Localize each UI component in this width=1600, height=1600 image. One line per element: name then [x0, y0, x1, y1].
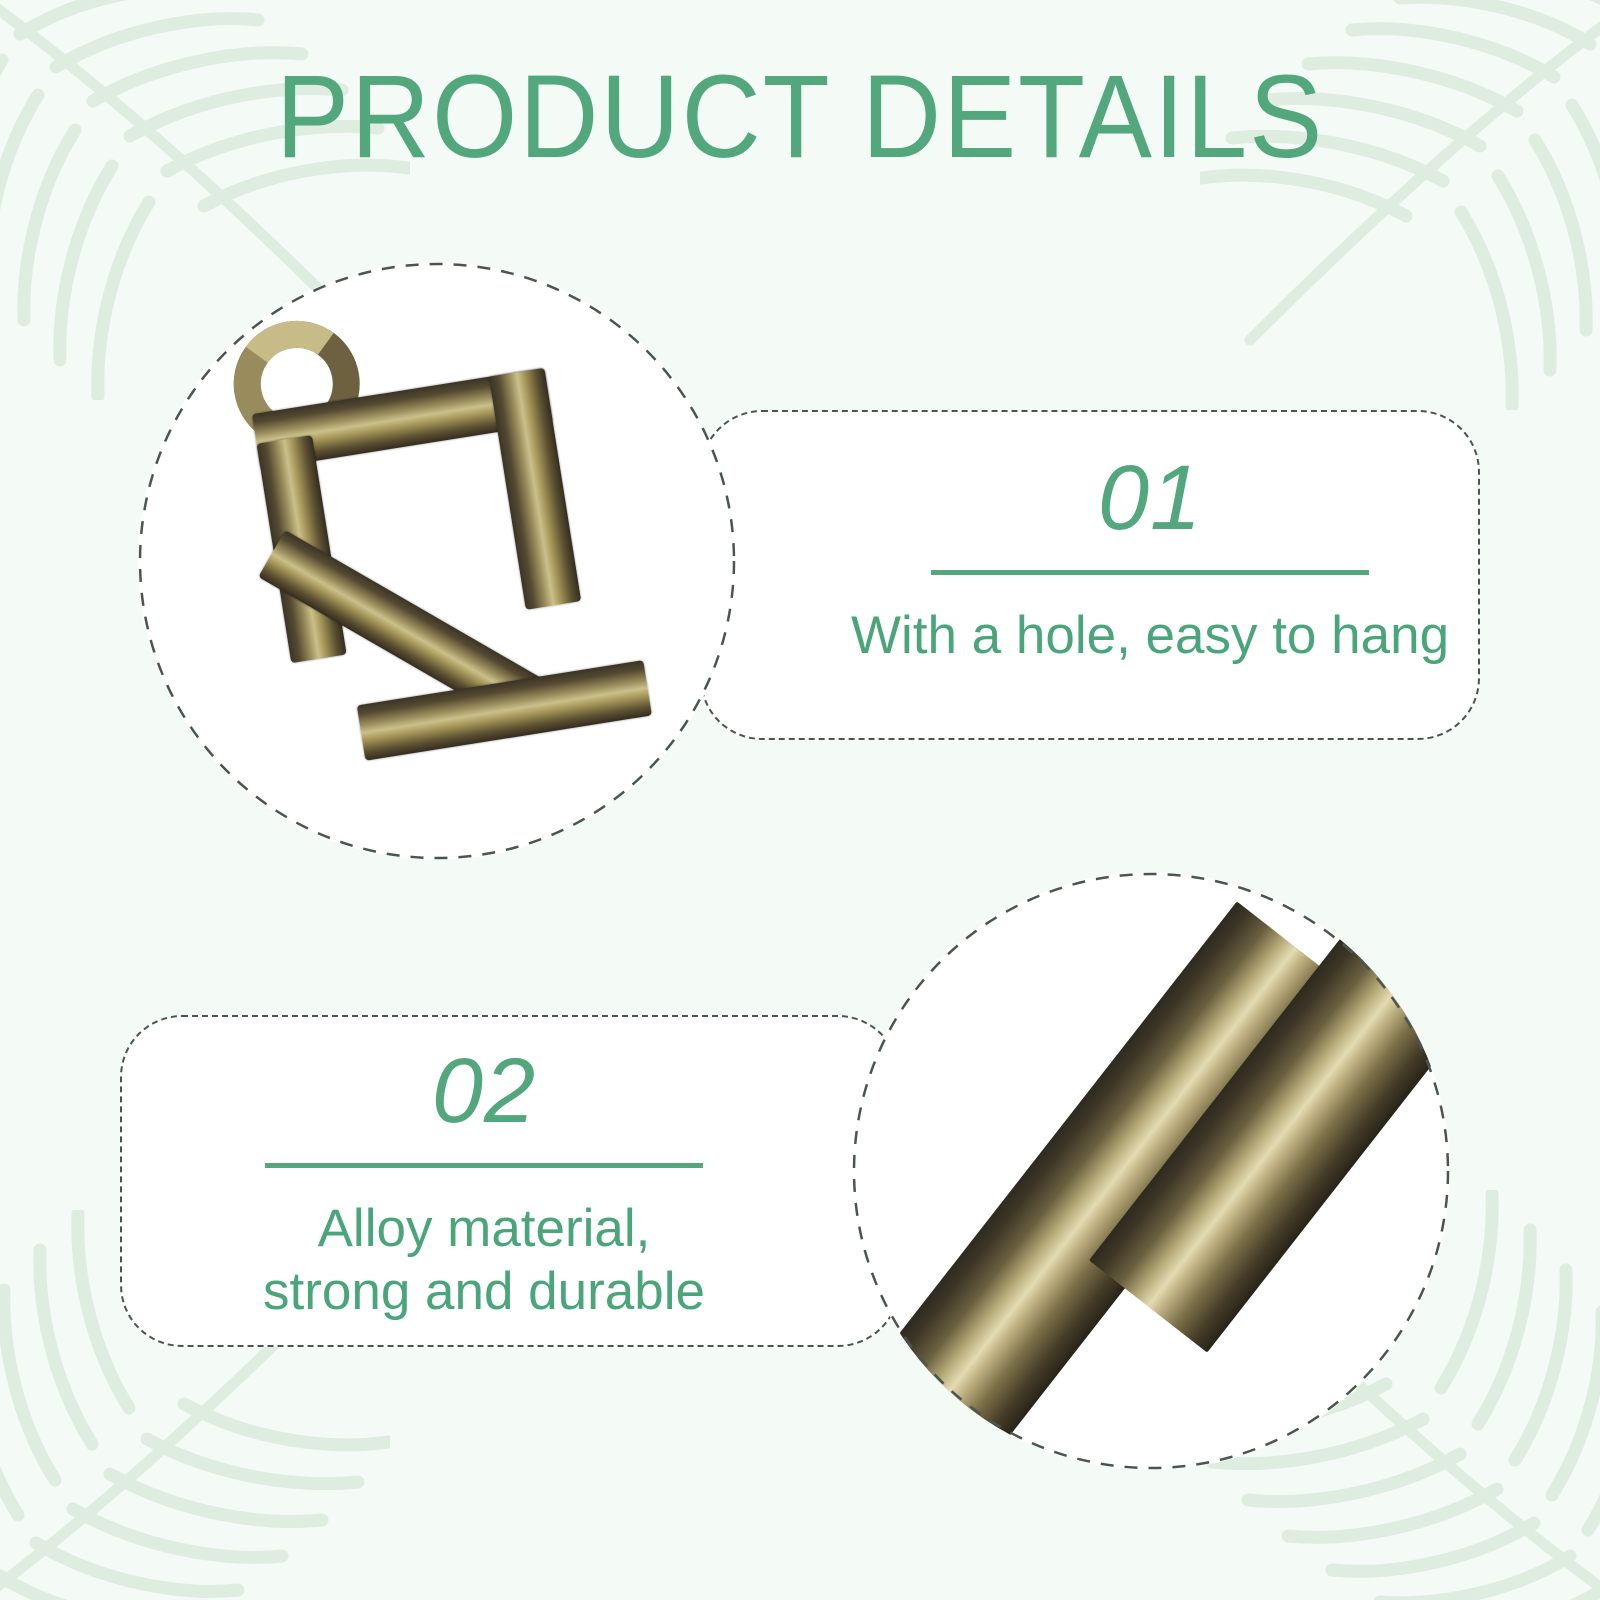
product-photo-circle-01: [138, 262, 736, 860]
feature-number-01: 01: [850, 452, 1450, 544]
bronze-letter-charm-image: [138, 262, 736, 860]
page-title: PRODUCT DETAILS: [56, 58, 1544, 176]
product-photo-01-clip: [138, 262, 736, 860]
feature-callout-01-content: 01 With a hole, easy to hang: [850, 452, 1450, 668]
feature-callout-01: 01 With a hole, easy to hang: [700, 410, 1480, 740]
feature-divider-01: [931, 570, 1369, 575]
charm-geometry: [138, 264, 723, 859]
feature-callout-02-content: 02 Alloy material, strong and durable: [184, 1045, 784, 1323]
product-photo-02-clip: [852, 872, 1450, 1470]
feature-divider-02: [265, 1163, 703, 1168]
infographic-canvas: PRODUCT DETAILS 01 With a hole, easy to …: [0, 0, 1600, 1600]
alloy-macro-image: [852, 872, 1450, 1470]
feature-callout-02: 02 Alloy material, strong and durable: [120, 1015, 900, 1347]
product-photo-circle-02: [852, 872, 1450, 1470]
charm-right-bar: [489, 368, 581, 610]
feature-caption-01: With a hole, easy to hang: [850, 605, 1450, 668]
feature-caption-02: Alloy material, strong and durable: [184, 1198, 784, 1323]
feature-number-02: 02: [184, 1045, 784, 1137]
